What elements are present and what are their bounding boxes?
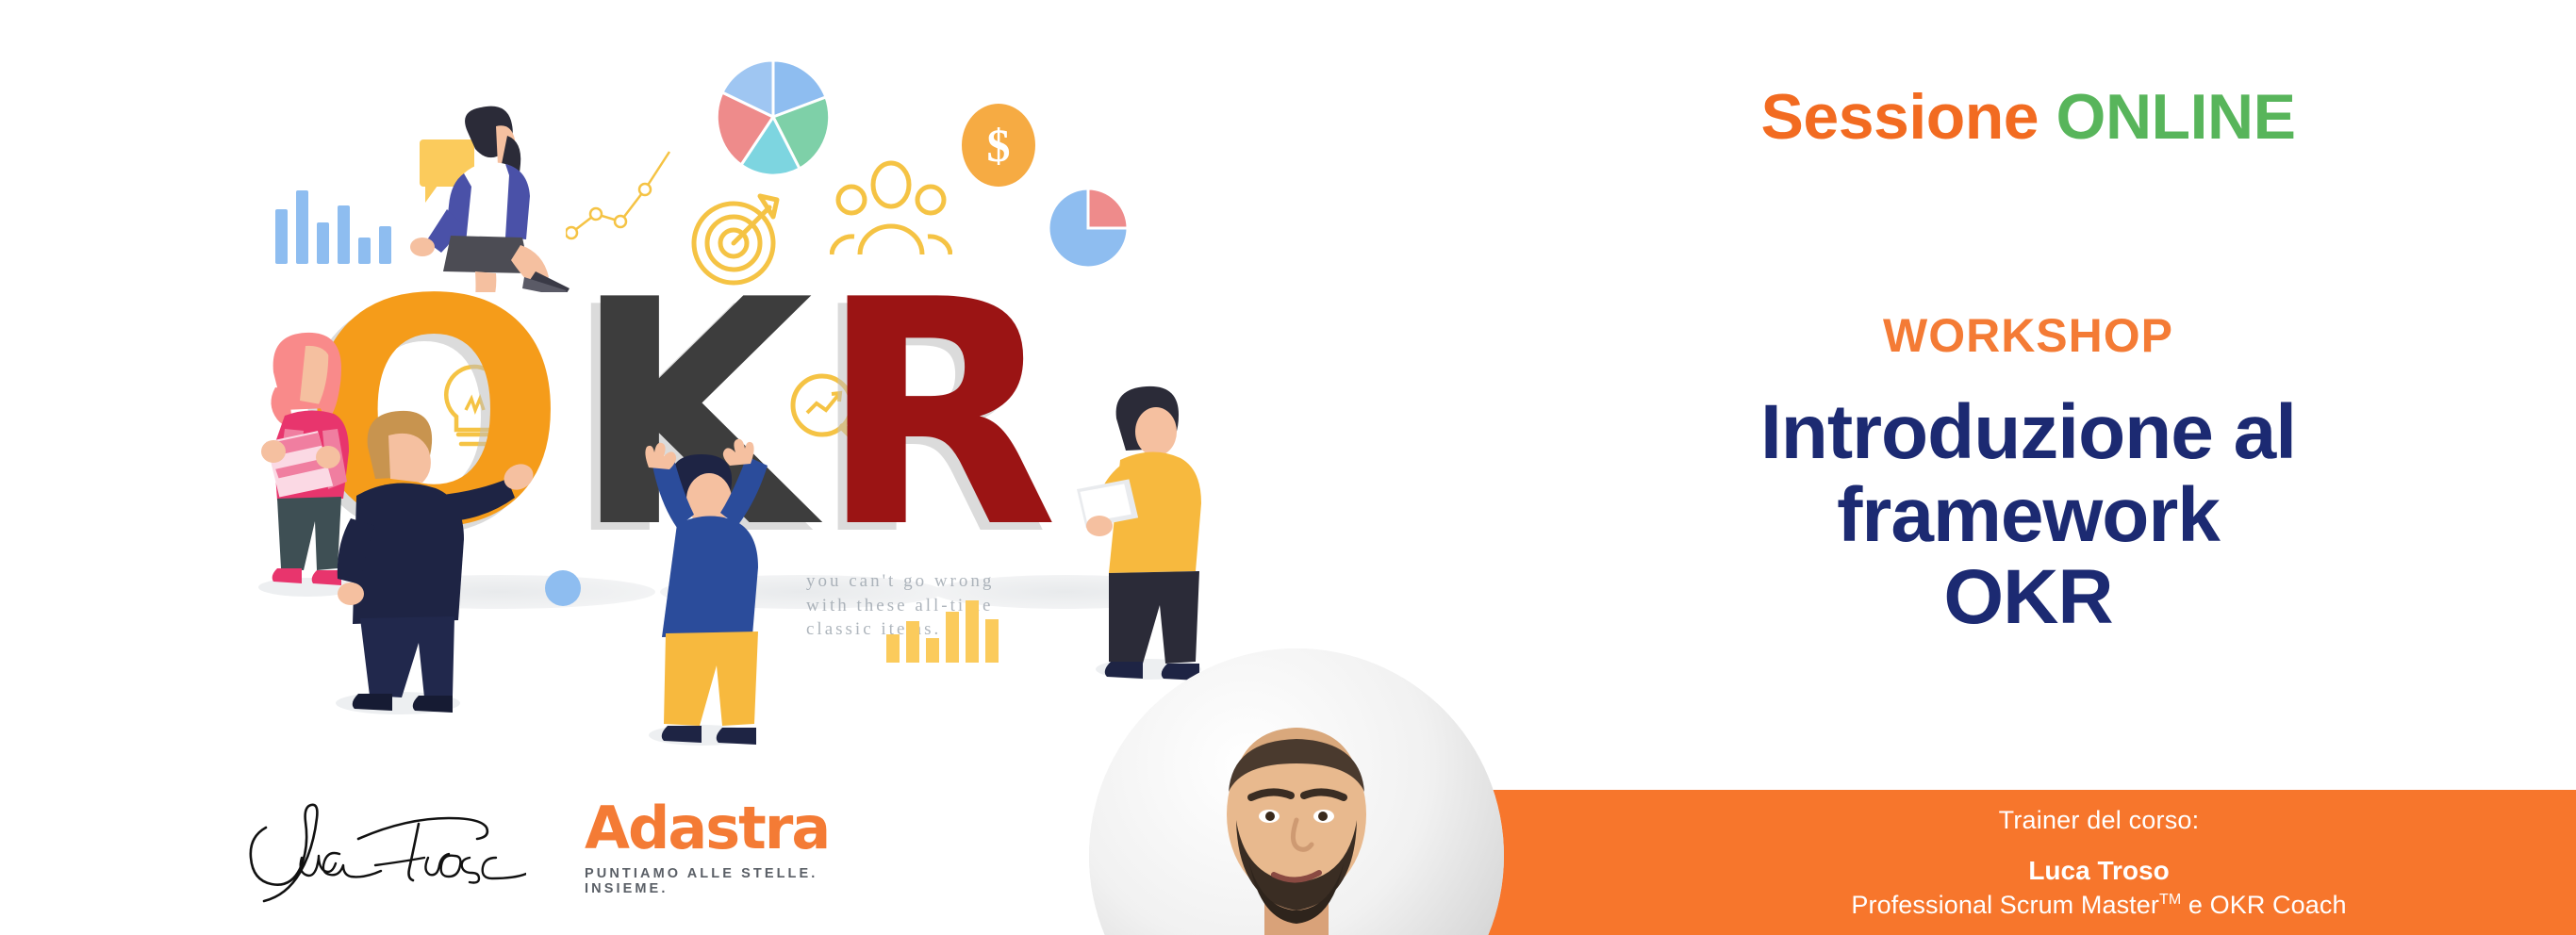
man-in-suit-drawing — [322, 405, 558, 716]
trainer-banner: Trainer del corso: Luca Troso Profession… — [1485, 790, 2576, 935]
luca-troso-signature — [234, 799, 526, 903]
adastra-tagline: PUNTIAMO ALLE STELLE. INSIEME. — [585, 866, 886, 896]
okr-letter-r: R — [818, 234, 1064, 596]
adastra-logo: Adastra PUNTIAMO ALLE STELLE. INSIEME. — [585, 799, 886, 903]
trainer-name: Luca Troso — [2028, 856, 2169, 886]
page-title-line-3: OKR — [1480, 556, 2576, 639]
man-raising-arms — [615, 426, 784, 746]
okr-illustration: $ — [0, 0, 1320, 754]
yellow-bar-chart-icon — [886, 599, 999, 663]
trademark-symbol: TM — [2159, 892, 2181, 908]
watermark-line-1: you can't go wrong — [806, 569, 994, 594]
coin-symbol: $ — [962, 104, 1035, 187]
adastra-wordmark: Adastra — [585, 799, 886, 858]
trainer-role: Professional Scrum MasterTM e OKR Coach — [1851, 891, 2346, 920]
session-prefix: Sessione — [1761, 81, 2039, 153]
woman-with-laptop — [405, 104, 585, 292]
session-mode-heading: Sessione ONLINE — [1480, 80, 2576, 154]
session-mode-badge: ONLINE — [2056, 81, 2296, 153]
trainer-role-suffix: e OKR Coach — [2181, 891, 2346, 919]
trainer-label: Trainer del corso: — [1999, 806, 2200, 835]
trainer-info: Trainer del corso: Luca Troso Profession… — [1622, 790, 2576, 935]
page-title-line-2: framework — [1480, 474, 2576, 557]
page-title-line-1: Introduzione al — [1480, 391, 2576, 474]
man-with-tablet — [1065, 369, 1226, 681]
workshop-eyebrow: WORKSHOP — [1480, 308, 2576, 363]
pie-chart-icon — [717, 58, 830, 176]
trainer-role-prefix: Professional Scrum Master — [1851, 891, 2159, 919]
dollar-coin-icon: $ — [962, 104, 1035, 187]
promotional-banner: $ — [0, 0, 2576, 935]
page-title: Introduzione al framework OKR — [1480, 391, 2576, 639]
content-column: Sessione ONLINE WORKSHOP Introduzione al… — [1480, 0, 2576, 790]
